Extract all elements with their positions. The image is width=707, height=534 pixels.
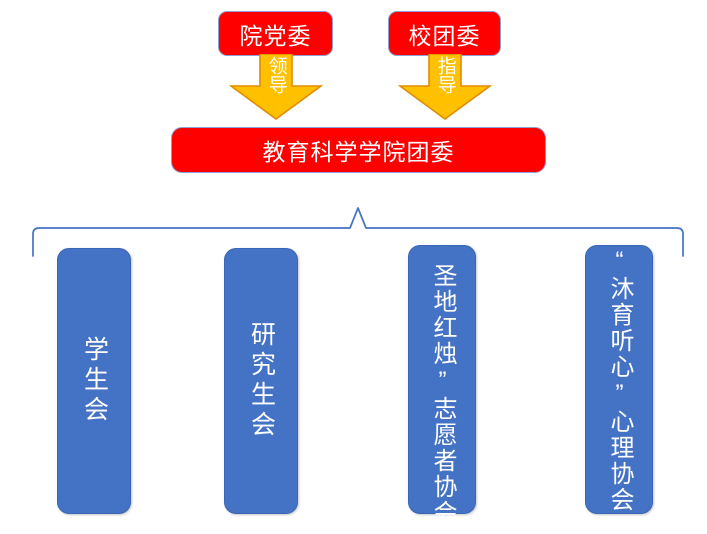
node-graduate-student-union[interactable]: 研究生会 bbox=[224, 248, 298, 514]
node-college-youth-league[interactable]: 教育科学学院团委 bbox=[171, 127, 546, 173]
node-graduate-student-union-label: 研究生会 bbox=[249, 321, 274, 441]
org-chart-canvas: 院党委 校团委 领导 指导 教育科学学院团委 学生会 研究生会 bbox=[0, 0, 707, 534]
node-psychology-association[interactable]: “沐育听心”心理协会 bbox=[585, 245, 653, 514]
node-school-youth-league-label: 校团委 bbox=[409, 17, 481, 51]
node-volunteer-association[interactable]: “圣地红烛”志愿者协会 bbox=[408, 245, 476, 514]
edge-guide-arrow: 指导 bbox=[398, 54, 492, 121]
node-volunteer-association-label: “圣地红烛”志愿者协会 bbox=[430, 234, 454, 526]
node-college-youth-league-label: 教育科学学院团委 bbox=[263, 133, 455, 167]
node-student-union-label: 学生会 bbox=[82, 336, 107, 426]
edge-lead-arrow: 领导 bbox=[229, 54, 323, 121]
node-party-committee-label: 院党委 bbox=[240, 17, 312, 51]
node-school-youth-league[interactable]: 校团委 bbox=[388, 11, 501, 56]
arrow-down-icon bbox=[398, 54, 492, 121]
node-party-committee[interactable]: 院党委 bbox=[218, 11, 333, 56]
node-psychology-association-label: “沐育听心”心理协会 bbox=[607, 247, 631, 513]
arrow-down-icon bbox=[229, 54, 323, 121]
node-student-union[interactable]: 学生会 bbox=[57, 248, 131, 514]
